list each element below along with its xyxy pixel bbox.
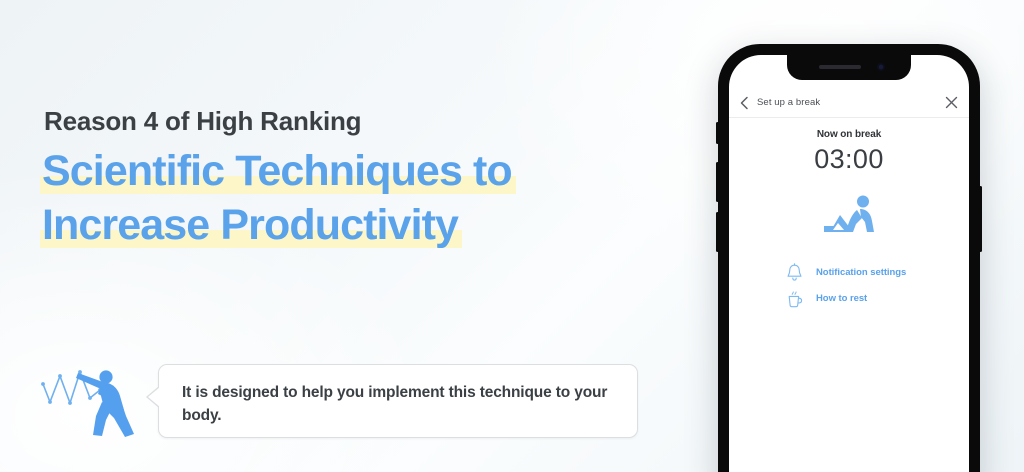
phone-power-button[interactable] bbox=[979, 186, 982, 252]
app-header: Set up a break bbox=[729, 88, 969, 118]
link-how-to-rest[interactable]: How to rest bbox=[786, 287, 906, 310]
callout-text-line-1: It is designed to help you implement thi… bbox=[182, 384, 552, 401]
phone-mockup: Set up a break Now on break 03:00 bbox=[718, 44, 980, 472]
headline-line-2-text: Increase Productivity bbox=[42, 201, 458, 249]
callout-text: It is designed to help you implement thi… bbox=[182, 381, 617, 427]
coffee-cup-icon bbox=[786, 289, 803, 308]
phone-volume-up-button[interactable] bbox=[716, 162, 719, 202]
link-how-to-rest-label: How to rest bbox=[816, 293, 867, 304]
person-resting-icon bbox=[820, 195, 878, 235]
slide-canvas: Reason 4 of High Ranking Scientific Tech… bbox=[0, 0, 1024, 472]
bubble-tail-fill bbox=[148, 387, 160, 407]
link-notification-settings-label: Notification settings bbox=[816, 267, 906, 278]
app-header-title: Set up a break bbox=[757, 97, 820, 108]
front-camera-icon bbox=[877, 63, 885, 71]
link-notification-settings[interactable]: Notification settings bbox=[786, 261, 906, 284]
chevron-left-icon[interactable] bbox=[739, 96, 750, 110]
eyebrow-text: Reason 4 of High Ranking bbox=[44, 106, 361, 137]
headline-line-1-text: Scientific Techniques to bbox=[42, 147, 512, 195]
break-timer-value: 03:00 bbox=[729, 144, 969, 175]
headline-line-2: Increase Productivity bbox=[42, 198, 458, 252]
page-title: Scientific Techniques to Increase Produc… bbox=[42, 144, 662, 252]
break-status-label: Now on break bbox=[729, 129, 969, 140]
phone-screen: Set up a break Now on break 03:00 bbox=[729, 55, 969, 472]
earpiece-speaker-icon bbox=[819, 65, 861, 69]
close-icon[interactable] bbox=[945, 96, 958, 109]
phone-notch bbox=[787, 55, 911, 80]
rest-illustration bbox=[729, 195, 969, 235]
bell-icon bbox=[786, 263, 803, 282]
callout-bubble: It is designed to help you implement thi… bbox=[158, 364, 638, 438]
quick-links-list: Notification settings How to rest bbox=[786, 261, 906, 313]
headline-line-1: Scientific Techniques to bbox=[42, 144, 512, 198]
phone-volume-down-button[interactable] bbox=[716, 212, 719, 252]
phone-mute-switch[interactable] bbox=[716, 122, 719, 144]
